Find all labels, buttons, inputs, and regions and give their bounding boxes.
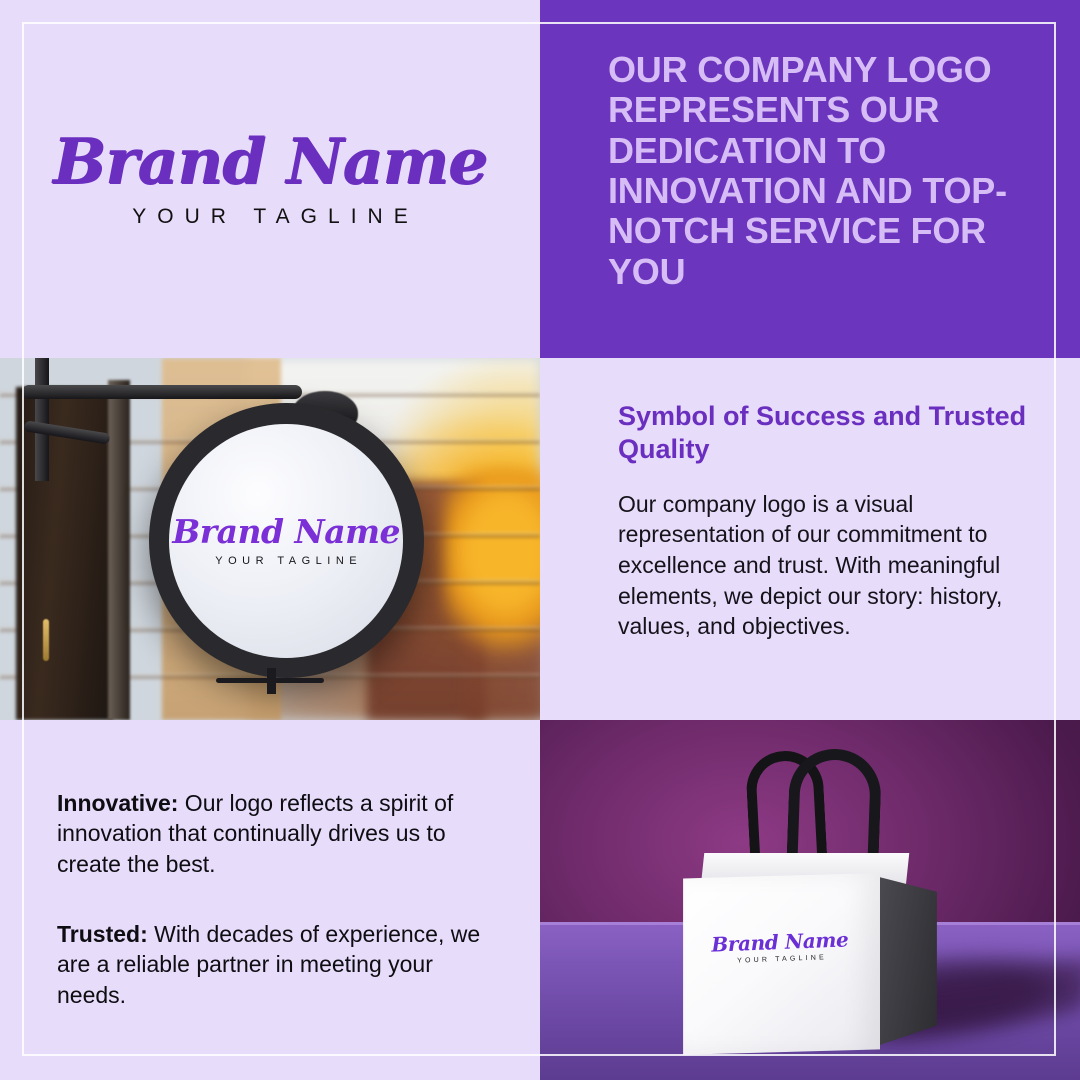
sign-brand-tagline: YOUR TAGLINE (215, 555, 362, 567)
sign-brand-name: Brand Name (172, 515, 400, 548)
value-point-label: Trusted: (57, 921, 148, 947)
storefront-scene: Brand Name YOUR TAGLINE (0, 358, 540, 720)
door-frame-edge (108, 380, 130, 720)
sign-bottom-bar (216, 678, 324, 683)
feature-body: Our company logo is a visual representat… (618, 489, 1048, 642)
value-point-innovative: Innovative: Our logo reflects a spirit o… (57, 788, 497, 879)
bag-side-gusset (878, 877, 937, 1046)
round-shop-sign: Brand Name YOUR TAGLINE (149, 403, 424, 678)
value-points-block: Innovative: Our logo reflects a spirit o… (57, 788, 497, 1050)
feature-copy-block: Symbol of Success and Trusted Quality Ou… (618, 400, 1048, 665)
sign-bracket-vertical (35, 358, 49, 481)
bag-brand-name: Brand Name (691, 929, 870, 956)
brand-name-wordmark: Brand Name (53, 130, 487, 193)
headline-text: OUR COMPANY LOGO REPRESENTS OUR DEDICATI… (608, 50, 1058, 292)
door-handle (43, 619, 49, 661)
sign-bracket-arm (22, 385, 303, 399)
logo-lockup: Brand Name YOUR TAGLINE (0, 0, 540, 358)
headline-panel: OUR COMPANY LOGO REPRESENTS OUR DEDICATI… (540, 0, 1080, 358)
value-points-panel: Innovative: Our logo reflects a spirit o… (0, 720, 540, 1080)
brand-presentation-poster: Brand Name YOUR TAGLINE OUR COMPANY LOGO… (0, 0, 1080, 1080)
storefront-photo: Brand Name YOUR TAGLINE (0, 358, 540, 720)
value-point-trusted: Trusted: With decades of experience, we … (57, 919, 497, 1010)
feature-copy-panel: Symbol of Success and Trusted Quality Ou… (540, 358, 1080, 720)
value-point-label: Innovative: (57, 790, 178, 816)
brand-tagline: YOUR TAGLINE (132, 205, 418, 229)
logo-panel: Brand Name YOUR TAGLINE (0, 0, 540, 358)
feature-heading: Symbol of Success and Trusted Quality (618, 400, 1048, 466)
shopping-bag-photo: Brand Name YOUR TAGLINE (540, 720, 1080, 1080)
sign-face: Brand Name YOUR TAGLINE (169, 424, 403, 658)
shopping-bag-scene: Brand Name YOUR TAGLINE (540, 720, 1080, 1080)
